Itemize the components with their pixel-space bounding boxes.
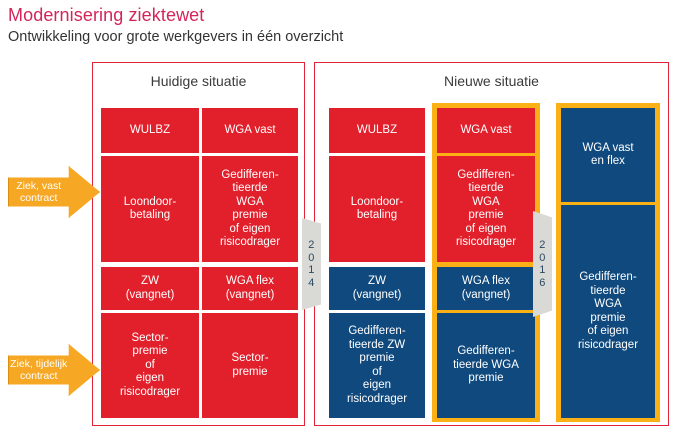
box-label: Gedifferen-tieerdeWGApremieof eigenrisic… bbox=[205, 169, 295, 250]
box-new-gedifferentieerde-zw-premie: Gedifferen-tieerde ZWpremieofeigenrisico… bbox=[329, 313, 425, 418]
box-new-gedifferentieerde-wga-premie: Gedifferen-tieerde WGApremie bbox=[437, 313, 535, 418]
box-label: WGA flex(vangnet) bbox=[440, 275, 532, 302]
year-2016-digits: 2 0 1 6 bbox=[539, 239, 546, 289]
year-digit: 6 bbox=[539, 277, 546, 290]
year-digit: 4 bbox=[308, 277, 315, 290]
box-current-sectorpremie: Sector-premie bbox=[202, 313, 298, 418]
box-current-wulbz: WULBZ bbox=[101, 108, 199, 153]
box-new-wga-vast-en-flex: WGA vasten flex bbox=[561, 108, 655, 202]
year-digit: 1 bbox=[539, 264, 546, 277]
box-label: WULBZ bbox=[104, 124, 196, 138]
year-digit: 0 bbox=[539, 252, 546, 265]
box-new-wga-flex-vangnet: WGA flex(vangnet) bbox=[437, 267, 535, 310]
box-new-gedifferentieerde-wga-premie-eigen-right: Gedifferen-tieerdeWGApremieof eigenrisic… bbox=[561, 205, 655, 418]
box-label: Gedifferen-tieerdeWGApremieof eigenrisic… bbox=[564, 271, 652, 352]
year-2014-digits: 2 0 1 4 bbox=[308, 239, 315, 289]
year-digit: 2 bbox=[539, 239, 546, 252]
box-new-wga-vast: WGA vast bbox=[437, 108, 535, 153]
box-label: WULBZ bbox=[332, 124, 422, 138]
box-new-wulbz: WULBZ bbox=[329, 108, 425, 153]
box-current-wga-flex-vangnet: WGA flex(vangnet) bbox=[202, 267, 298, 310]
flow-arrow-label: Ziek, tijdelijk contract bbox=[9, 358, 68, 382]
flow-arrow-line-1: Ziek, tijdelijk bbox=[9, 358, 68, 370]
box-label: Gedifferen-tieerde ZWpremieofeigenrisico… bbox=[332, 325, 422, 406]
box-label: Gedifferen-tieerdeWGApremieof eigenrisic… bbox=[440, 169, 532, 250]
box-label: Loondoor-betaling bbox=[104, 196, 196, 223]
flow-arrow-ziek-tijdelijk-contract: Ziek, tijdelijk contract bbox=[8, 344, 100, 396]
heading-new-situation: Nieuwe situatie bbox=[314, 72, 669, 90]
flow-arrow-line-2: contract bbox=[9, 192, 68, 204]
box-current-gedifferentieerde-wga-premie: Gedifferen-tieerdeWGApremieof eigenrisic… bbox=[202, 156, 298, 262]
flow-arrow-line-2: contract bbox=[9, 370, 68, 382]
box-label: WGA vast bbox=[440, 124, 532, 138]
year-digit: 1 bbox=[308, 264, 315, 277]
box-label: WGA flex(vangnet) bbox=[205, 275, 295, 302]
box-label: Loondoor-betaling bbox=[332, 196, 422, 223]
year-digit: 0 bbox=[308, 252, 315, 265]
box-label: Sector-premieofeigenrisicodrager bbox=[104, 332, 196, 400]
box-label: Gedifferen-tieerde WGApremie bbox=[440, 345, 532, 386]
box-label: ZW(vangnet) bbox=[332, 275, 422, 302]
flow-arrow-label: Ziek, vast contract bbox=[9, 180, 68, 204]
year-marker-2016: 2 0 1 6 bbox=[533, 211, 552, 317]
box-new-gedifferentieerde-wga-premie-eigen: Gedifferen-tieerdeWGApremieof eigenrisic… bbox=[437, 156, 535, 262]
box-new-zw-vangnet: ZW(vangnet) bbox=[329, 267, 425, 310]
heading-current-situation: Huidige situatie bbox=[92, 72, 305, 90]
box-label: ZW(vangnet) bbox=[104, 275, 196, 302]
year-digit: 2 bbox=[308, 239, 315, 252]
box-current-loondoorbetaling: Loondoor-betaling bbox=[101, 156, 199, 262]
flow-arrow-ziek-vast-contract: Ziek, vast contract bbox=[8, 166, 100, 218]
box-new-loondoorbetaling: Loondoor-betaling bbox=[329, 156, 425, 262]
box-current-wga-vast: WGA vast bbox=[202, 108, 298, 153]
ziektewet-diagram: Huidige situatie Nieuwe situatie WULBZ L… bbox=[0, 0, 677, 439]
flow-arrow-line-1: Ziek, vast bbox=[9, 180, 68, 192]
box-current-zw-vangnet: ZW(vangnet) bbox=[101, 267, 199, 310]
year-marker-2014: 2 0 1 4 bbox=[302, 218, 321, 310]
box-current-sectorpremie-eigen: Sector-premieofeigenrisicodrager bbox=[101, 313, 199, 418]
box-label: Sector-premie bbox=[205, 352, 295, 379]
box-label: WGA vast bbox=[205, 124, 295, 138]
box-label: WGA vasten flex bbox=[564, 142, 652, 169]
